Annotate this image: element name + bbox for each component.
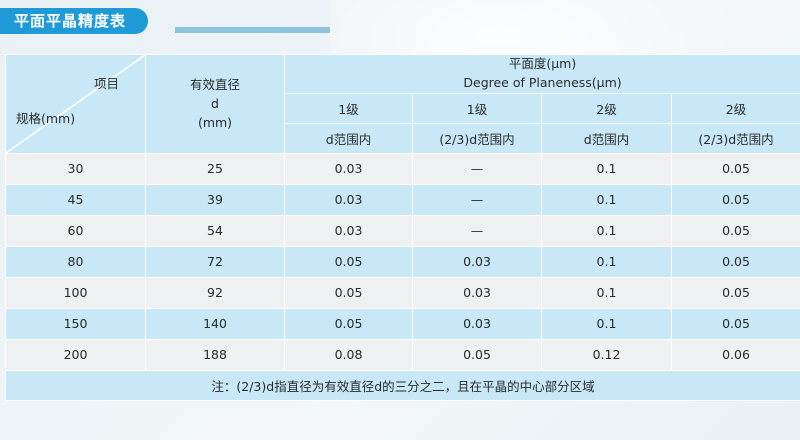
cell-diameter: 25: [146, 154, 284, 184]
table-body: 30 25 0.03 — 0.1 0.05 45 39 0.03 — 0.1 0…: [6, 154, 800, 400]
header-rule: [175, 27, 330, 33]
corner-top-label: 项目: [94, 73, 119, 92]
diameter-header-line2: d: [146, 94, 284, 113]
diagonal-divider-icon: [6, 55, 145, 153]
cell-grade2-23d: 0.05: [672, 185, 800, 215]
cell-grade1-d: 0.03: [285, 185, 412, 215]
cell-spec: 45: [6, 185, 145, 215]
cell-grade2-23d: 0.05: [672, 309, 800, 339]
cell-grade1-d: 0.08: [285, 340, 412, 370]
range-header-3: d范围内: [542, 124, 671, 153]
table-row: 45 39 0.03 — 0.1 0.05: [6, 185, 800, 215]
planeness-header-cn: 平面度(µm): [285, 55, 800, 74]
cell-grade1-23d: 0.03: [413, 309, 541, 339]
cell-grade2-d: 0.1: [542, 278, 671, 308]
table-row: 30 25 0.03 — 0.1 0.05: [6, 154, 800, 184]
cell-grade2-d: 0.12: [542, 340, 671, 370]
corner-bottom-label: 规格(mm): [16, 108, 75, 127]
cell-spec: 30: [6, 154, 145, 184]
cell-diameter: 140: [146, 309, 284, 339]
planeness-group-header: 平面度(µm) Degree of Planeness(µm): [285, 55, 800, 93]
cell-diameter: 39: [146, 185, 284, 215]
cell-grade2-23d: 0.05: [672, 216, 800, 246]
grade-header-1: 1级: [285, 94, 412, 123]
cell-diameter: 92: [146, 278, 284, 308]
cell-grade2-d: 0.1: [542, 309, 671, 339]
cell-diameter: 188: [146, 340, 284, 370]
cell-grade2-23d: 0.06: [672, 340, 800, 370]
cell-grade1-d: 0.03: [285, 216, 412, 246]
range-header-2: (2/3)d范围内: [413, 124, 541, 153]
diameter-header-line3: (mm): [146, 113, 284, 132]
cell-grade1-23d: 0.03: [413, 247, 541, 277]
cell-diameter: 54: [146, 216, 284, 246]
cell-grade2-23d: 0.05: [672, 154, 800, 184]
cell-grade2-d: 0.1: [542, 154, 671, 184]
grade-header-2: 1级: [413, 94, 541, 123]
page-title: 平面平晶精度表: [14, 14, 126, 29]
cell-grade1-23d: 0.03: [413, 278, 541, 308]
grade-header-3: 2级: [542, 94, 671, 123]
spec-table-container: 项目 规格(mm) 有效直径 d (mm) 平面度(µm) Degree of …: [5, 54, 795, 401]
cell-grade1-23d: 0.05: [413, 340, 541, 370]
cell-spec: 100: [6, 278, 145, 308]
cell-grade2-d: 0.1: [542, 216, 671, 246]
table-row: 80 72 0.05 0.03 0.1 0.05: [6, 247, 800, 277]
cell-spec: 200: [6, 340, 145, 370]
cell-grade1-d: 0.05: [285, 309, 412, 339]
cell-diameter: 72: [146, 247, 284, 277]
note-row: 注：(2/3)d指直径为有效直径d的三分之二，且在平晶的中心部分区域: [6, 371, 800, 400]
cell-grade1-23d: —: [413, 154, 541, 184]
table-row: 150 140 0.05 0.03 0.1 0.05: [6, 309, 800, 339]
cell-grade1-d: 0.05: [285, 278, 412, 308]
table-note: 注：(2/3)d指直径为有效直径d的三分之二，且在平晶的中心部分区域: [6, 371, 800, 400]
cell-spec: 60: [6, 216, 145, 246]
cell-spec: 150: [6, 309, 145, 339]
page-title-tab: 平面平晶精度表: [0, 8, 148, 34]
grade-header-4: 2级: [672, 94, 800, 123]
cell-grade1-d: 0.03: [285, 154, 412, 184]
table-row: 100 92 0.05 0.03 0.1 0.05: [6, 278, 800, 308]
cell-grade1-23d: —: [413, 185, 541, 215]
range-header-1: d范围内: [285, 124, 412, 153]
cell-grade2-23d: 0.05: [672, 247, 800, 277]
diameter-header-line1: 有效直径: [146, 75, 284, 94]
table-row: 200 188 0.08 0.05 0.12 0.06: [6, 340, 800, 370]
table-row: 60 54 0.03 — 0.1 0.05: [6, 216, 800, 246]
cell-grade2-d: 0.1: [542, 247, 671, 277]
cell-grade1-23d: —: [413, 216, 541, 246]
planeness-header-en: Degree of Planeness(µm): [285, 74, 800, 93]
corner-header-cell: 项目 规格(mm): [6, 55, 145, 153]
diameter-header-cell: 有效直径 d (mm): [146, 55, 284, 153]
page-header: 平面平晶精度表: [0, 8, 800, 38]
range-header-4: (2/3)d范围内: [672, 124, 800, 153]
cell-grade1-d: 0.05: [285, 247, 412, 277]
cell-spec: 80: [6, 247, 145, 277]
cell-grade2-d: 0.1: [542, 185, 671, 215]
cell-grade2-23d: 0.05: [672, 278, 800, 308]
table-head: 项目 规格(mm) 有效直径 d (mm) 平面度(µm) Degree of …: [6, 55, 800, 153]
spec-table: 项目 规格(mm) 有效直径 d (mm) 平面度(µm) Degree of …: [5, 54, 800, 401]
